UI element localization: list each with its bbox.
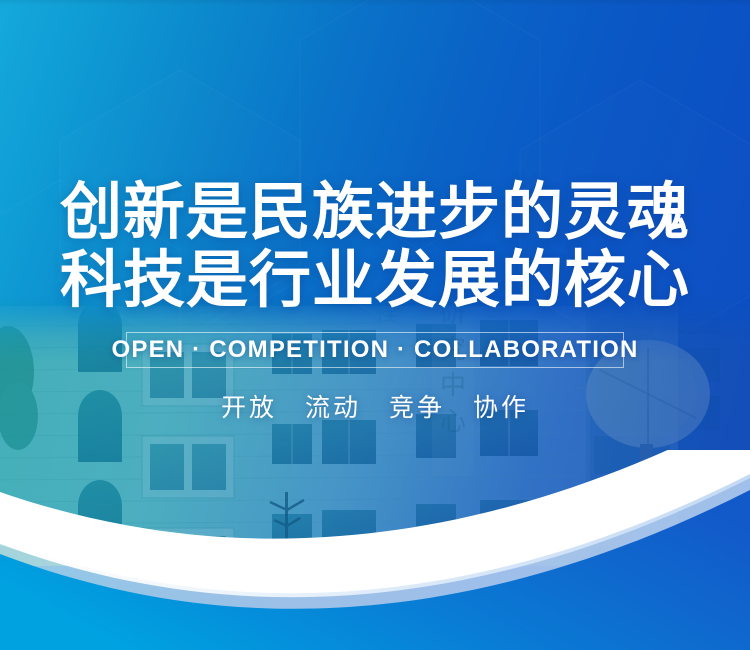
promo-banner: 研 究 中 心 工 程 [0,0,750,650]
subtitle-box: OPEN · COMPETITION · COLLABORATION [126,332,624,368]
tagline-word-1: 开放 [221,394,277,422]
headline: 创新是民族进步的灵魂 科技是行业发展的核心 [0,182,750,312]
headline-line-2: 科技是行业发展的核心 [0,250,750,312]
tagline-word-4: 协作 [473,394,529,422]
headline-line-1: 创新是民族进步的灵魂 [0,182,750,244]
tagline-word-2: 流动 [305,394,361,422]
subtitle-text: OPEN · COMPETITION · COLLABORATION [112,336,639,364]
tagline: 开放 流动 竞争 协作 [0,388,750,424]
banner-content: 创新是民族进步的灵魂 科技是行业发展的核心 OPEN · COMPETITION… [0,0,750,424]
tagline-word-3: 竞争 [389,394,445,422]
swoosh-divider [0,450,750,650]
